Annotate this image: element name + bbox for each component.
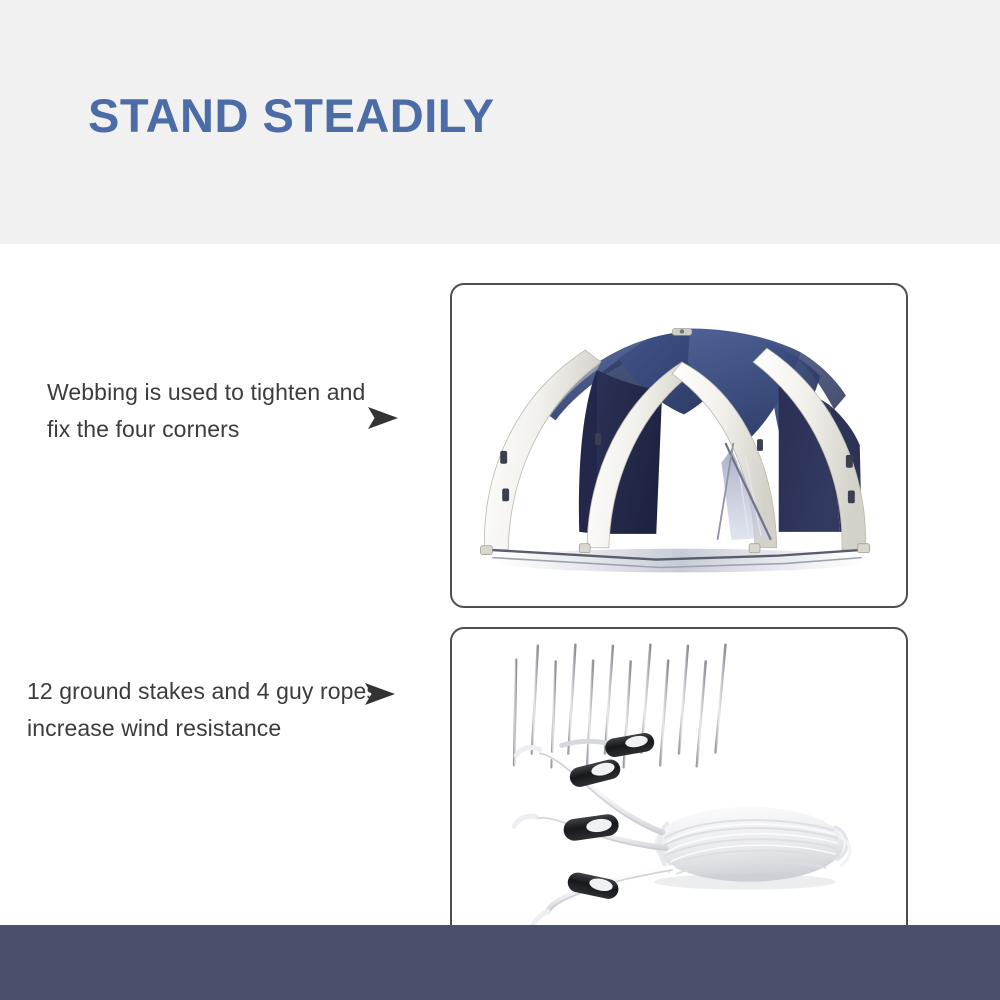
panel-tent-photo <box>450 283 908 608</box>
rope-tensioner <box>604 731 656 758</box>
footer-bar <box>0 925 1000 1000</box>
rope-tensioner <box>568 757 623 789</box>
feature-text-webbing: Webbing is used to tighten and fix the f… <box>47 374 377 449</box>
stakes-and-ropes-illustration <box>452 629 906 943</box>
page-title: STAND STEADILY <box>88 88 495 143</box>
panel-hardware-photo <box>450 627 908 945</box>
feature-text-stakes: 12 ground stakes and 4 guy ropes increas… <box>27 673 397 748</box>
arrow-right-icon <box>366 405 400 431</box>
dome-canopy-tent-illustration <box>452 285 906 606</box>
arrow-right-icon <box>363 681 397 707</box>
